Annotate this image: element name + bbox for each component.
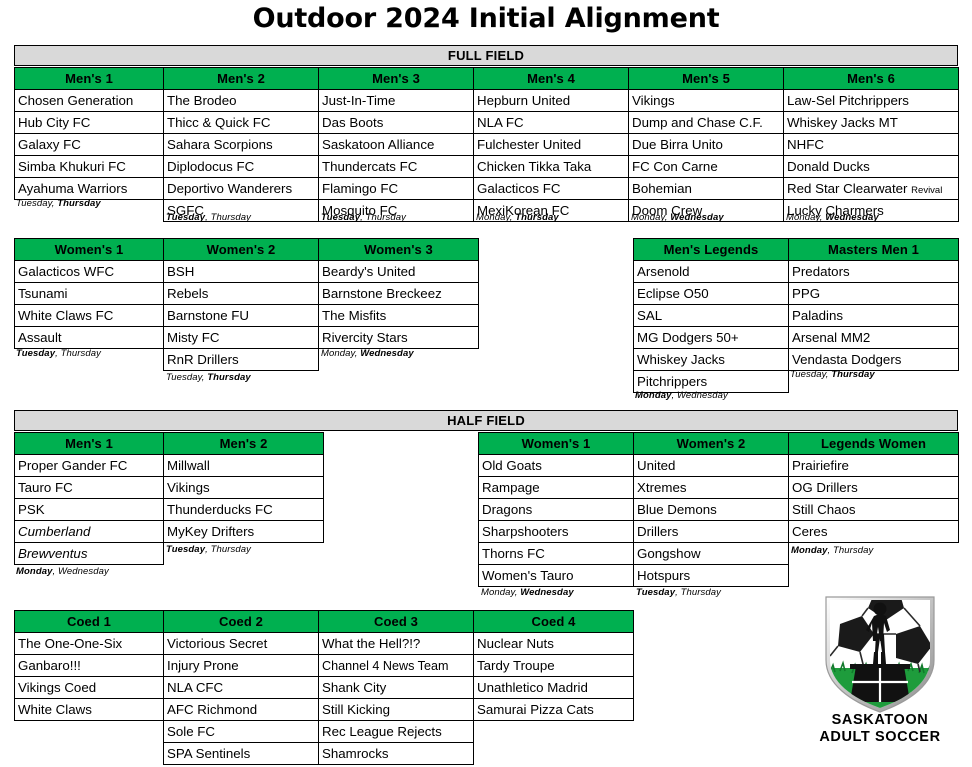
team-cell: Deportivo Wanderers bbox=[164, 178, 319, 200]
table-row: Arsenold Predators bbox=[634, 261, 959, 283]
team-cell: Still Kicking bbox=[319, 699, 474, 721]
days-label-ff-mens-4: Monday, Thursday bbox=[476, 212, 559, 223]
team-cell: Rivercity Stars bbox=[319, 327, 479, 349]
column-header-hf-mens-2: Men's 2 bbox=[164, 433, 324, 455]
column-header-womens-1: Women's 1 bbox=[15, 239, 164, 261]
team-cell: PSK bbox=[15, 499, 164, 521]
table-header-row: Women's 1 Women's 2 Legends Women bbox=[479, 433, 959, 455]
team-cell: MyKey Drifters bbox=[164, 521, 324, 543]
section-banner-half-field: HALF FIELD bbox=[14, 410, 958, 431]
team-cell: Sharpshooters bbox=[479, 521, 634, 543]
team-cell: Eclipse O50 bbox=[634, 283, 789, 305]
team-cell: Saskatoon Alliance bbox=[319, 134, 474, 156]
team-cell: Vikings Coed bbox=[15, 677, 164, 699]
team-name-suffix: Revival bbox=[911, 185, 942, 196]
document-page: Outdoor 2024 Initial Alignment FULL FIEL… bbox=[0, 0, 972, 767]
table-row: Galaxy FC Sahara Scorpions Saskatoon All… bbox=[15, 134, 959, 156]
table-row: Ganbaro!!! Injury Prone Channel 4 News T… bbox=[15, 655, 634, 677]
column-header-hf-womens-2: Women's 2 bbox=[634, 433, 789, 455]
table-row: SPA Sentinels Shamrocks bbox=[15, 743, 634, 765]
team-cell: Whiskey Jacks bbox=[634, 349, 789, 371]
column-header-womens-3: Women's 3 bbox=[319, 239, 479, 261]
table-row: White Claws AFC Richmond Still Kicking S… bbox=[15, 699, 634, 721]
logo-line-2: ADULT SOCCER bbox=[800, 729, 960, 746]
team-cell: White Claws bbox=[15, 699, 164, 721]
table-header-row: Men's 1 Men's 2 bbox=[15, 433, 324, 455]
team-cell: Hub City FC bbox=[15, 112, 164, 134]
team-cell: Vendasta Dodgers bbox=[789, 349, 959, 371]
table-row: Ayahuma Warriors Deportivo Wanderers Fla… bbox=[15, 178, 959, 200]
days-label-ff-masters: Tuesday, Thursday bbox=[790, 369, 875, 380]
team-cell: Just-In-Time bbox=[319, 90, 474, 112]
team-cell: Thunderducks FC bbox=[164, 499, 324, 521]
table-row: White Claws FC Barnstone FU The Misfits bbox=[15, 305, 479, 327]
column-header-coed-1: Coed 1 bbox=[15, 611, 164, 633]
team-cell: Dump and Chase C.F. bbox=[629, 112, 784, 134]
table-row: Whiskey Jacks Vendasta Dodgers bbox=[634, 349, 959, 371]
column-header-mens-5: Men's 5 bbox=[629, 68, 784, 90]
team-cell: Tardy Troupe bbox=[474, 655, 634, 677]
days-label-ff-mens-3: Tuesday, Thursday bbox=[321, 212, 406, 223]
empty-cell bbox=[474, 721, 634, 743]
table-row: Thorns FC Gongshow bbox=[479, 543, 959, 565]
team-cell: Nuclear Nuts bbox=[474, 633, 634, 655]
days-label-hf-womens-2: Tuesday, Thursday bbox=[636, 587, 721, 598]
table-row: The One-One-Six Victorious Secret What t… bbox=[15, 633, 634, 655]
team-cell: Ayahuma Warriors bbox=[15, 178, 164, 200]
team-cell: Chicken Tikka Taka bbox=[474, 156, 629, 178]
team-cell: Shamrocks bbox=[319, 743, 474, 765]
column-header-mens-legends: Men's Legends bbox=[634, 239, 789, 261]
section-banner-full-field: FULL FIELD bbox=[14, 45, 958, 66]
table-row: Cumberland MyKey Drifters bbox=[15, 521, 324, 543]
team-cell: United bbox=[634, 455, 789, 477]
table-header-row: Men's Legends Masters Men 1 bbox=[634, 239, 959, 261]
team-cell: Donald Ducks bbox=[784, 156, 959, 178]
team-cell: Galacticos WFC bbox=[15, 261, 164, 283]
team-cell: Victorious Secret bbox=[164, 633, 319, 655]
team-cell: PPG bbox=[789, 283, 959, 305]
team-cell: Sole FC bbox=[164, 721, 319, 743]
team-cell: Tsunami bbox=[15, 283, 164, 305]
table-row: Chosen Generation The Brodeo Just-In-Tim… bbox=[15, 90, 959, 112]
team-cell: Hotspurs bbox=[634, 565, 789, 587]
team-cell: The Brodeo bbox=[164, 90, 319, 112]
team-cell: Injury Prone bbox=[164, 655, 319, 677]
team-cell: NLA FC bbox=[474, 112, 629, 134]
team-cell: Barnstone Breckeez bbox=[319, 283, 479, 305]
team-cell: Prairiefire bbox=[789, 455, 959, 477]
days-label-hf-mens-1: Monday, Wednesday bbox=[16, 566, 109, 577]
team-cell: Millwall bbox=[164, 455, 324, 477]
team-cell: Due Birra Unito bbox=[629, 134, 784, 156]
column-header-mens-3: Men's 3 bbox=[319, 68, 474, 90]
table-row: Eclipse O50 PPG bbox=[634, 283, 959, 305]
team-cell: Whiskey Jacks MT bbox=[784, 112, 959, 134]
team-cell: Diplodocus FC bbox=[164, 156, 319, 178]
team-cell: Rampage bbox=[479, 477, 634, 499]
team-cell: Das Boots bbox=[319, 112, 474, 134]
table-row: MG Dodgers 50+ Arsenal MM2 bbox=[634, 327, 959, 349]
column-header-womens-2: Women's 2 bbox=[164, 239, 319, 261]
team-cell: Predators bbox=[789, 261, 959, 283]
days-label-ff-mens-1: Tuesday, Thursday bbox=[16, 198, 101, 209]
table-row: Old Goats United Prairiefire bbox=[479, 455, 959, 477]
table-row: Assault Misty FC Rivercity Stars bbox=[15, 327, 479, 349]
table-row: Proper Gander FC Millwall bbox=[15, 455, 324, 477]
table-row: Galacticos WFC BSH Beardy's United bbox=[15, 261, 479, 283]
empty-cell bbox=[15, 721, 164, 743]
table-row: Tauro FC Vikings bbox=[15, 477, 324, 499]
team-cell: SPA Sentinels bbox=[164, 743, 319, 765]
empty-cell bbox=[15, 743, 164, 765]
column-header-coed-3: Coed 3 bbox=[319, 611, 474, 633]
table-row: Women's Tauro Hotspurs bbox=[479, 565, 959, 587]
team-cell: What the Hell?!? bbox=[319, 633, 474, 655]
empty-cell bbox=[789, 565, 959, 587]
team-cell: Vikings bbox=[629, 90, 784, 112]
team-cell: Tauro FC bbox=[15, 477, 164, 499]
column-header-legends-women: Legends Women bbox=[789, 433, 959, 455]
logo-wordmark: SASKATOON ADULT SOCCER bbox=[800, 712, 960, 746]
column-header-mens-4: Men's 4 bbox=[474, 68, 629, 90]
team-cell: Dragons bbox=[479, 499, 634, 521]
team-cell: Fulchester United bbox=[474, 134, 629, 156]
team-cell: Cumberland bbox=[15, 521, 164, 543]
team-cell: Ceres bbox=[789, 521, 959, 543]
column-header-mens-2: Men's 2 bbox=[164, 68, 319, 90]
team-cell: SAL bbox=[634, 305, 789, 327]
table-header-row: Coed 1 Coed 2 Coed 3 Coed 4 bbox=[15, 611, 634, 633]
team-cell: Blue Demons bbox=[634, 499, 789, 521]
team-cell: Beardy's United bbox=[319, 261, 479, 283]
team-cell: Rec League Rejects bbox=[319, 721, 474, 743]
team-cell: Brewventus bbox=[15, 543, 164, 565]
table-header-row: Men's 1 Men's 2 Men's 3 Men's 4 Men's 5 … bbox=[15, 68, 959, 90]
days-label-ff-womens-2: Tuesday, Thursday bbox=[166, 372, 251, 383]
table-row: PSK Thunderducks FC bbox=[15, 499, 324, 521]
team-cell: Assault bbox=[15, 327, 164, 349]
team-cell: Still Chaos bbox=[789, 499, 959, 521]
team-cell: OG Drillers bbox=[789, 477, 959, 499]
table-header-row: Women's 1 Women's 2 Women's 3 bbox=[15, 239, 479, 261]
team-cell: Galacticos FC bbox=[474, 178, 629, 200]
empty-cell bbox=[474, 743, 634, 765]
team-cell: Ganbaro!!! bbox=[15, 655, 164, 677]
team-cell: NHFC bbox=[784, 134, 959, 156]
team-cell-red-star: Red Star Clearwater Revival bbox=[784, 178, 959, 200]
team-cell: Arsenal MM2 bbox=[789, 327, 959, 349]
shield-icon bbox=[800, 594, 960, 714]
team-cell: Gongshow bbox=[634, 543, 789, 565]
team-cell: Simba Khukuri FC bbox=[15, 156, 164, 178]
team-cell: Unathletico Madrid bbox=[474, 677, 634, 699]
team-cell: Paladins bbox=[789, 305, 959, 327]
team-cell: Shank City bbox=[319, 677, 474, 699]
table-row: Sole FC Rec League Rejects bbox=[15, 721, 634, 743]
table-row: Vikings Coed NLA CFC Shank City Unathlet… bbox=[15, 677, 634, 699]
days-label-ff-mens-5: Monday, Wednesday bbox=[631, 212, 724, 223]
team-cell: Channel 4 News Team bbox=[319, 655, 474, 677]
team-cell: The One-One-Six bbox=[15, 633, 164, 655]
team-cell: Sahara Scorpions bbox=[164, 134, 319, 156]
days-label-hf-mens-2: Tuesday, Thursday bbox=[166, 544, 251, 555]
team-cell: Arsenold bbox=[634, 261, 789, 283]
team-cell: Hepburn United bbox=[474, 90, 629, 112]
team-cell: White Claws FC bbox=[15, 305, 164, 327]
saskatoon-adult-soccer-logo: SASKATOON ADULT SOCCER bbox=[800, 594, 960, 762]
days-label-ff-mens-6: Monday, Wednesday bbox=[786, 212, 879, 223]
team-cell: AFC Richmond bbox=[164, 699, 319, 721]
table-full-field-mens: Men's 1 Men's 2 Men's 3 Men's 4 Men's 5 … bbox=[14, 67, 959, 222]
column-header-mens-6: Men's 6 bbox=[784, 68, 959, 90]
logo-line-1: SASKATOON bbox=[800, 712, 960, 729]
table-row: Simba Khukuri FC Diplodocus FC Thunderca… bbox=[15, 156, 959, 178]
team-cell: Bohemian bbox=[629, 178, 784, 200]
team-cell: Misty FC bbox=[164, 327, 319, 349]
table-row: Sharpshooters Drillers Ceres bbox=[479, 521, 959, 543]
table-row: Rampage Xtremes OG Drillers bbox=[479, 477, 959, 499]
column-header-mens-1: Men's 1 bbox=[15, 68, 164, 90]
team-name: Red Star Clearwater bbox=[787, 181, 907, 196]
team-cell: Drillers bbox=[634, 521, 789, 543]
team-cell: The Misfits bbox=[319, 305, 479, 327]
team-cell: Samurai Pizza Cats bbox=[474, 699, 634, 721]
table-coed: Coed 1 Coed 2 Coed 3 Coed 4 The One-One-… bbox=[14, 610, 634, 765]
days-label-hf-womens-1: Monday, Wednesday bbox=[481, 587, 574, 598]
team-cell: Thorns FC bbox=[479, 543, 634, 565]
days-label-ff-mens-2: Tuesday, Thursday bbox=[166, 212, 251, 223]
team-cell: Chosen Generation bbox=[15, 90, 164, 112]
column-header-coed-2: Coed 2 bbox=[164, 611, 319, 633]
page-title: Outdoor 2024 Initial Alignment bbox=[0, 2, 972, 36]
team-cell: Flamingo FC bbox=[319, 178, 474, 200]
team-cell: Galaxy FC bbox=[15, 134, 164, 156]
days-label-ff-womens-1: Tuesday, Thursday bbox=[16, 348, 101, 359]
table-row: Hub City FC Thicc & Quick FC Das Boots N… bbox=[15, 112, 959, 134]
days-label-ff-legends: Monday, Wednesday bbox=[635, 390, 728, 401]
team-cell: Old Goats bbox=[479, 455, 634, 477]
team-cell: Rebels bbox=[164, 283, 319, 305]
days-label-ff-womens-3: Monday, Wednesday bbox=[321, 348, 414, 359]
table-row: SAL Paladins bbox=[634, 305, 959, 327]
team-cell: RnR Drillers bbox=[164, 349, 319, 371]
column-header-masters-men-1: Masters Men 1 bbox=[789, 239, 959, 261]
team-cell: Thundercats FC bbox=[319, 156, 474, 178]
column-header-coed-4: Coed 4 bbox=[474, 611, 634, 633]
table-row: Tsunami Rebels Barnstone Breckeez bbox=[15, 283, 479, 305]
column-header-hf-womens-1: Women's 1 bbox=[479, 433, 634, 455]
team-cell: NLA CFC bbox=[164, 677, 319, 699]
team-cell: BSH bbox=[164, 261, 319, 283]
team-cell: Xtremes bbox=[634, 477, 789, 499]
table-row: Dragons Blue Demons Still Chaos bbox=[479, 499, 959, 521]
team-cell: Thicc & Quick FC bbox=[164, 112, 319, 134]
team-cell: Women's Tauro bbox=[479, 565, 634, 587]
column-header-hf-mens-1: Men's 1 bbox=[15, 433, 164, 455]
team-cell: FC Con Carne bbox=[629, 156, 784, 178]
team-cell: Proper Gander FC bbox=[15, 455, 164, 477]
team-cell: Vikings bbox=[164, 477, 324, 499]
team-cell: MG Dodgers 50+ bbox=[634, 327, 789, 349]
team-cell: Barnstone FU bbox=[164, 305, 319, 327]
table-half-field-womens: Women's 1 Women's 2 Legends Women Old Go… bbox=[478, 432, 959, 587]
team-cell: Law-Sel Pitchrippers bbox=[784, 90, 959, 112]
days-label-legends-women: Monday, Thursday bbox=[791, 545, 873, 556]
